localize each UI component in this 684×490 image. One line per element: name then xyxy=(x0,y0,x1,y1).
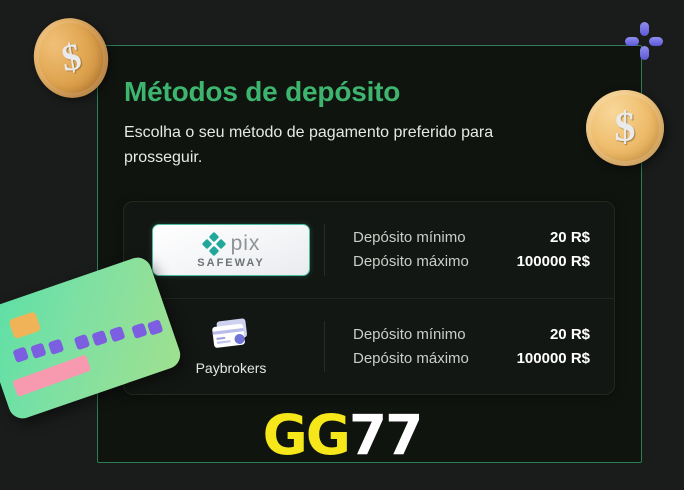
deposit-methods-panel: Métodos de depósito Escolha o seu método… xyxy=(97,45,642,463)
limit-label-max: Depósito máximo xyxy=(353,250,469,274)
watermark-part1: GG xyxy=(263,403,349,467)
paybrokers-label: Paybrokers xyxy=(196,360,267,376)
limit-line-max: Depósito máximo 100000 R$ xyxy=(353,347,590,371)
limit-line-min: Depósito mínimo 20 R$ xyxy=(353,226,590,250)
pix-logo-row: pix xyxy=(202,232,261,256)
card-chip xyxy=(8,311,41,339)
pix-diamond-icon xyxy=(202,232,226,256)
page-subtitle: Escolha o seu método de pagamento prefer… xyxy=(124,120,564,170)
method-brand-paybrokers[interactable]: Paybrokers xyxy=(138,317,324,376)
pix-wordmark: pix xyxy=(231,234,261,254)
pix-safeway-caption: SAFEWAY xyxy=(197,257,264,269)
method-limits-pix: Depósito mínimo 20 R$ Depósito máximo 10… xyxy=(325,226,608,274)
pix-safeway-logo-tile[interactable]: pix SAFEWAY xyxy=(152,224,310,276)
payment-method-row-paybrokers[interactable]: Paybrokers Depósito mínimo 20 R$ Depósit… xyxy=(124,298,614,394)
credit-cards-icon xyxy=(208,317,254,353)
watermark-gg77: GG77 xyxy=(0,408,684,463)
limit-label-min: Depósito mínimo xyxy=(353,323,466,347)
limit-label-min: Depósito mínimo xyxy=(353,226,466,250)
limit-value-min: 20 R$ xyxy=(550,226,590,250)
payment-methods-list: pix SAFEWAY Depósito mínimo 20 R$ Depósi… xyxy=(123,201,615,395)
limit-line-max: Depósito máximo 100000 R$ xyxy=(353,250,590,274)
page-title: Métodos de depósito xyxy=(124,76,617,108)
limit-line-min: Depósito mínimo 20 R$ xyxy=(353,323,590,347)
watermark-part2: 77 xyxy=(349,403,422,467)
method-limits-paybrokers: Depósito mínimo 20 R$ Depósito máximo 10… xyxy=(325,323,608,371)
payment-method-row-pix[interactable]: pix SAFEWAY Depósito mínimo 20 R$ Depósi… xyxy=(124,202,614,298)
limit-value-max: 100000 R$ xyxy=(517,250,590,274)
card-magnetic-stripe xyxy=(12,354,91,397)
limit-label-max: Depósito máximo xyxy=(353,347,469,371)
limit-value-max: 100000 R$ xyxy=(517,347,590,371)
limit-value-min: 20 R$ xyxy=(550,323,590,347)
coin-dollar-glyph: $ xyxy=(58,35,84,82)
method-brand-pix[interactable]: pix SAFEWAY xyxy=(138,224,324,276)
